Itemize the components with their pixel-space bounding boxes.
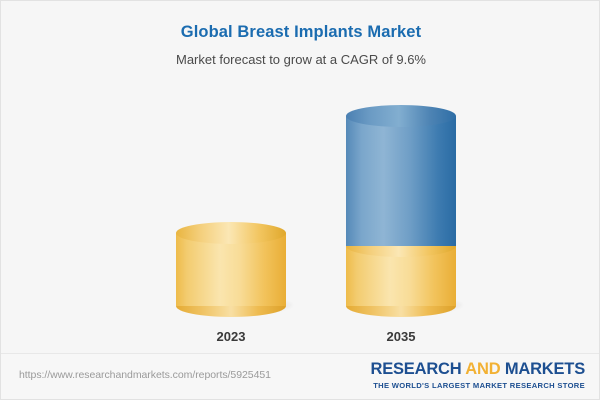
axis-label-2023: 2023 [161, 329, 301, 344]
chart-header: Global Breast Implants Market Market for… [1, 1, 600, 69]
axis-label-2035: 2035 [331, 329, 471, 344]
logo-word-and: AND [465, 360, 500, 378]
brand-logo: RESEARCH AND MARKETS THE WORLD'S LARGEST… [370, 360, 585, 391]
infographic-card: Global Breast Implants Market Market for… [0, 0, 600, 400]
cylinder-top-ellipse [176, 222, 286, 244]
page-title: Global Breast Implants Market [1, 21, 600, 43]
logo-wordmark: RESEARCH AND MARKETS [370, 360, 585, 379]
bar-2023[interactable] [176, 233, 286, 306]
logo-tagline: THE WORLD'S LARGEST MARKET RESEARCH STOR… [370, 380, 585, 391]
chart-plot-area: USD 19.2 Billion 2023 USD 57.68 Billion [1, 86, 600, 344]
bar-segment-2035-growth [346, 116, 456, 246]
bar-segment-2035-base [346, 246, 456, 306]
bar-segment-2023-base [176, 233, 286, 306]
source-url[interactable]: https://www.researchandmarkets.com/repor… [19, 369, 271, 381]
logo-word-markets: MARKETS [505, 360, 585, 378]
cylinder-top-ellipse [346, 105, 456, 127]
chart-subtitle: Market forecast to grow at a CAGR of 9.6… [1, 51, 600, 69]
bar-2035[interactable] [346, 116, 456, 306]
footer: https://www.researchandmarkets.com/repor… [1, 354, 600, 400]
cylinder-body [346, 116, 456, 246]
logo-word-research: RESEARCH [370, 360, 461, 378]
